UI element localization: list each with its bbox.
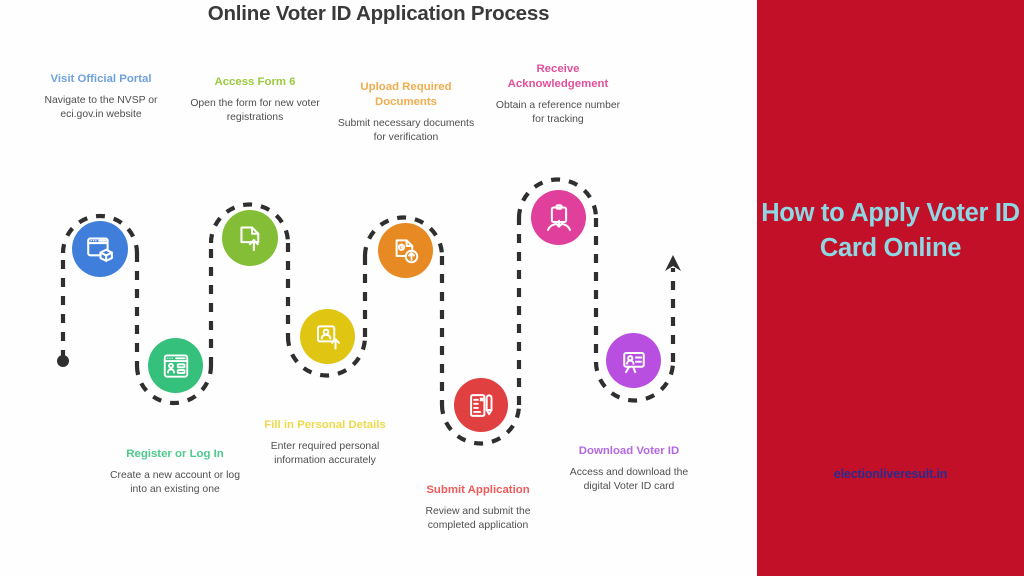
step-icon-receive-acknowledgement[interactable] — [531, 190, 586, 245]
step-icon-access-form-6[interactable] — [222, 210, 278, 266]
step-title: Fill in Personal Details — [261, 418, 389, 433]
side-panel: How to Apply Voter ID Card Online electi… — [757, 0, 1024, 576]
path-start-dot — [57, 355, 69, 367]
document-add-upload-icon — [391, 236, 421, 266]
step-title: Register or Log In — [107, 447, 243, 462]
step-icon-submit-application[interactable] — [454, 378, 508, 432]
step-text-fill-in-personal-details: Fill in Personal Details Enter required … — [261, 418, 389, 469]
step-text-access-form-6: Access Form 6 Open the form for new vote… — [188, 75, 322, 126]
step-description: Review and submit the completed applicat… — [412, 505, 544, 534]
registration-form-icon — [161, 351, 191, 381]
step-text-upload-required-documents: Upload Required Documents Submit necessa… — [337, 80, 475, 146]
form-pen-submit-icon — [467, 391, 496, 420]
step-description: Open the form for new voter registration… — [188, 97, 322, 126]
step-icon-upload-required-documents[interactable] — [378, 223, 433, 278]
id-card-download-icon — [619, 346, 649, 376]
site-watermark: electionliveresult.in — [757, 467, 1024, 481]
step-text-visit-official-portal: Visit Official Portal Navigate to the NV… — [32, 72, 170, 123]
browser-window-box-icon — [85, 234, 116, 265]
step-title: Submit Application — [412, 483, 544, 498]
step-title: Visit Official Portal — [32, 72, 170, 87]
step-title: Access Form 6 — [188, 75, 322, 90]
step-text-submit-application: Submit Application Review and submit the… — [412, 483, 544, 534]
step-description: Navigate to the NVSP or eci.gov.in websi… — [32, 94, 170, 123]
step-text-register-or-log-in: Register or Log In Create a new account … — [107, 447, 243, 498]
side-panel-headline: How to Apply Voter ID Card Online — [757, 196, 1024, 266]
step-description: Create a new account or log into an exis… — [107, 469, 243, 498]
step-icon-download-voter-id[interactable] — [606, 333, 661, 388]
step-title: Upload Required Documents — [337, 80, 475, 110]
step-description: Enter required personal information accu… — [261, 440, 389, 469]
step-text-receive-acknowledgement: Receive Acknowledgement Obtain a referen… — [489, 62, 627, 128]
step-icon-visit-official-portal[interactable] — [72, 221, 128, 277]
step-text-download-voter-id: Download Voter ID Access and download th… — [560, 444, 698, 495]
step-icon-fill-in-personal-details[interactable] — [300, 309, 355, 364]
step-description: Submit necessary documents for verificat… — [337, 117, 475, 146]
step-description: Access and download the digital Voter ID… — [560, 466, 698, 495]
clipboard-handover-icon — [544, 203, 574, 233]
document-upload-icon — [235, 223, 266, 254]
step-icon-register-or-log-in[interactable] — [148, 338, 203, 393]
step-title: Receive Acknowledgement — [489, 62, 627, 92]
step-title: Download Voter ID — [560, 444, 698, 459]
infographic-canvas: Online Voter ID Application Process — [0, 0, 757, 576]
person-card-upload-icon — [313, 322, 343, 352]
infographic-page: Online Voter ID Application Process — [0, 0, 1024, 576]
step-description: Obtain a reference number for tracking — [489, 99, 627, 128]
